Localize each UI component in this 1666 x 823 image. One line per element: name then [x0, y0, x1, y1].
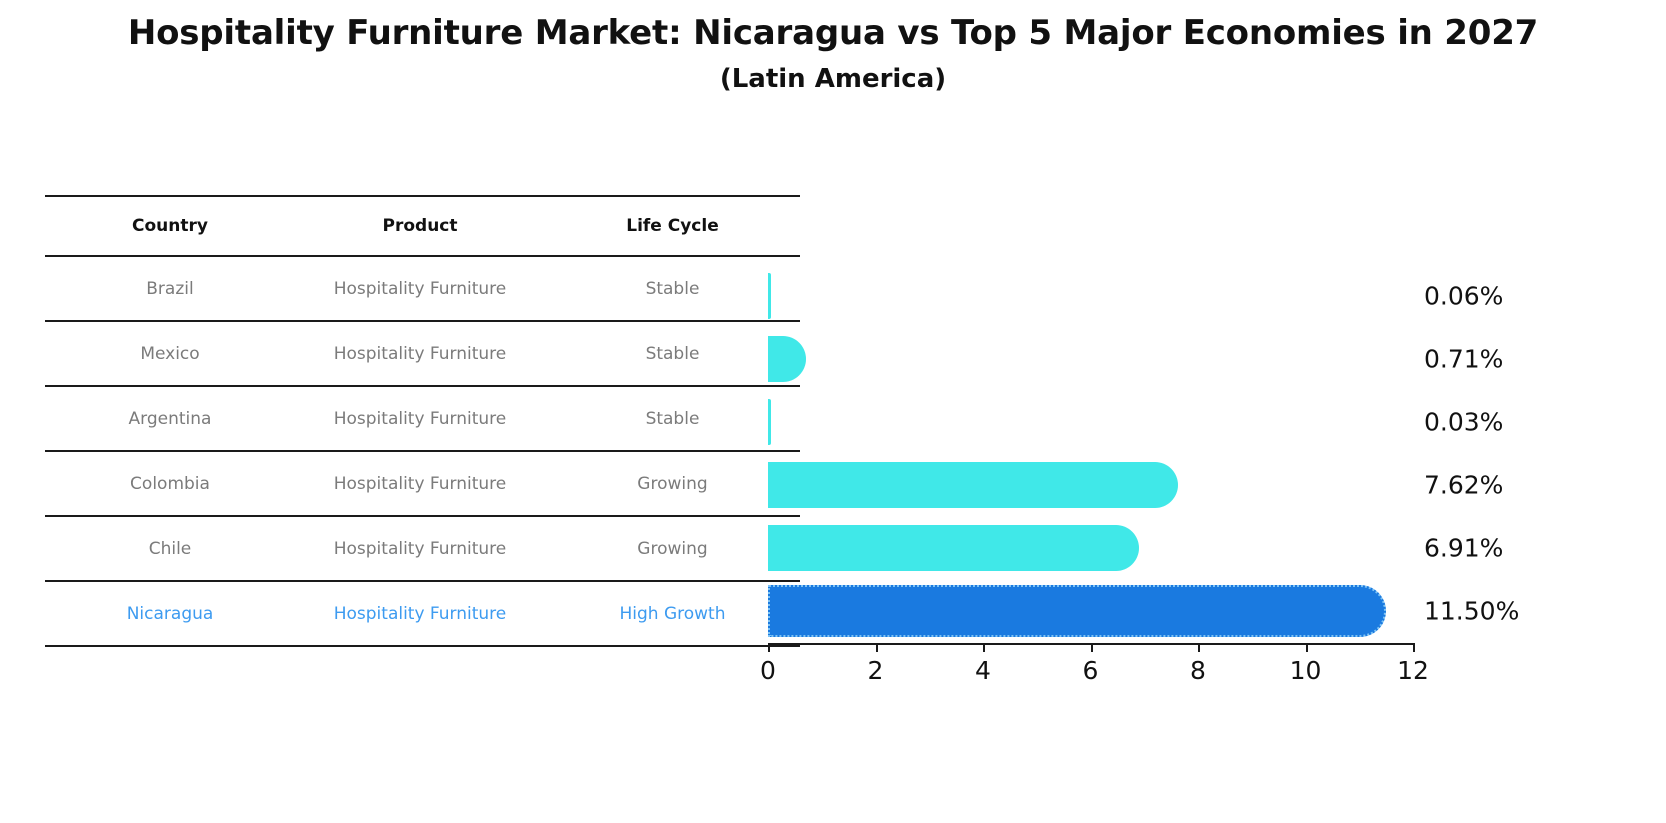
bar-value-label: 0.06% [1424, 281, 1503, 310]
table-cell-product: Hospitality Furniture [295, 386, 545, 451]
x-axis-tick-label: 10 [1290, 656, 1322, 685]
bar-row: 0.71% [768, 327, 1413, 390]
bar [768, 525, 1139, 571]
page-subtitle: (Latin America) [0, 63, 1666, 97]
bar-value-label: 7.62% [1424, 470, 1503, 499]
table-body: BrazilHospitality FurnitureStableMexicoH… [45, 256, 800, 646]
x-axis-tick-label: 0 [760, 656, 776, 685]
bar-value-label: 0.71% [1424, 344, 1503, 373]
bar [768, 273, 771, 319]
x-axis-tick [1198, 643, 1200, 652]
table-row: ArgentinaHospitality FurnitureStable [45, 386, 800, 451]
bar-row: 6.91% [768, 516, 1413, 579]
figure-area: Country Product Life Cycle BrazilHospita… [0, 195, 1666, 755]
x-axis-tick-label: 12 [1397, 656, 1429, 685]
table-cell-product: Hospitality Furniture [295, 581, 545, 646]
bar [768, 462, 1178, 508]
page-title: Hospitality Furniture Market: Nicaragua … [0, 12, 1666, 55]
table-cell-product: Hospitality Furniture [295, 516, 545, 581]
x-axis-tick [983, 643, 985, 652]
table-cell-life-cycle: Growing [545, 516, 800, 581]
table-cell-life-cycle: Stable [545, 321, 800, 386]
x-axis-tick-label: 2 [868, 656, 884, 685]
x-axis-tick [1306, 643, 1308, 652]
table-cell-country: Chile [45, 516, 295, 581]
x-axis-tick-label: 8 [1190, 656, 1206, 685]
x-axis-tick [768, 643, 770, 652]
x-axis-tick [1413, 643, 1415, 652]
chart-title-block: Hospitality Furniture Market: Nicaragua … [0, 12, 1666, 96]
table-row: BrazilHospitality FurnitureStable [45, 256, 800, 321]
column-header-country: Country [45, 196, 295, 256]
table-row: MexicoHospitality FurnitureStable [45, 321, 800, 386]
x-axis-tick [1091, 643, 1093, 652]
column-header-product: Product [295, 196, 545, 256]
column-header-life-cycle: Life Cycle [545, 196, 800, 256]
country-table-panel: Country Product Life Cycle BrazilHospita… [45, 195, 800, 655]
bar-highlight [768, 585, 1386, 637]
bar-value-label: 0.03% [1424, 407, 1503, 436]
bar-row: 7.62% [768, 453, 1413, 516]
table-row: ChileHospitality FurnitureGrowing [45, 516, 800, 581]
chart-page: { "title": { "line1": "Hospitality Furni… [0, 0, 1666, 823]
table-cell-country: Argentina [45, 386, 295, 451]
table-cell-life-cycle: Growing [545, 451, 800, 516]
table-header-row: Country Product Life Cycle [45, 196, 800, 256]
bar-chart-panel: 0.06%0.71%0.03%7.62%6.91%11.50% 02468101… [768, 195, 1648, 695]
x-axis: 024681012 [768, 643, 1413, 703]
table-cell-country: Brazil [45, 256, 295, 321]
table-cell-country: Mexico [45, 321, 295, 386]
bar [768, 399, 771, 445]
bar-value-label: 6.91% [1424, 533, 1503, 562]
table-cell-product: Hospitality Furniture [295, 321, 545, 386]
bar-row: 11.50% [768, 579, 1413, 642]
plot-area: 0.06%0.71%0.03%7.62%6.91%11.50% [768, 264, 1413, 643]
x-axis-tick-label: 4 [975, 656, 991, 685]
bar-row: 0.06% [768, 264, 1413, 327]
table-cell-life-cycle: Stable [545, 386, 800, 451]
bar-value-label: 11.50% [1424, 596, 1519, 625]
table-cell-life-cycle: Stable [545, 256, 800, 321]
table-cell-life-cycle: High Growth [545, 581, 800, 646]
table-row: ColombiaHospitality FurnitureGrowing [45, 451, 800, 516]
bar-row: 0.03% [768, 390, 1413, 453]
table-cell-country: Nicaragua [45, 581, 295, 646]
x-axis-tick [876, 643, 878, 652]
bar [768, 336, 806, 382]
table-cell-product: Hospitality Furniture [295, 451, 545, 516]
x-axis-tick-label: 6 [1083, 656, 1099, 685]
table-cell-product: Hospitality Furniture [295, 256, 545, 321]
country-table: Country Product Life Cycle BrazilHospita… [45, 195, 800, 647]
table-cell-country: Colombia [45, 451, 295, 516]
table-row: NicaraguaHospitality FurnitureHigh Growt… [45, 581, 800, 646]
